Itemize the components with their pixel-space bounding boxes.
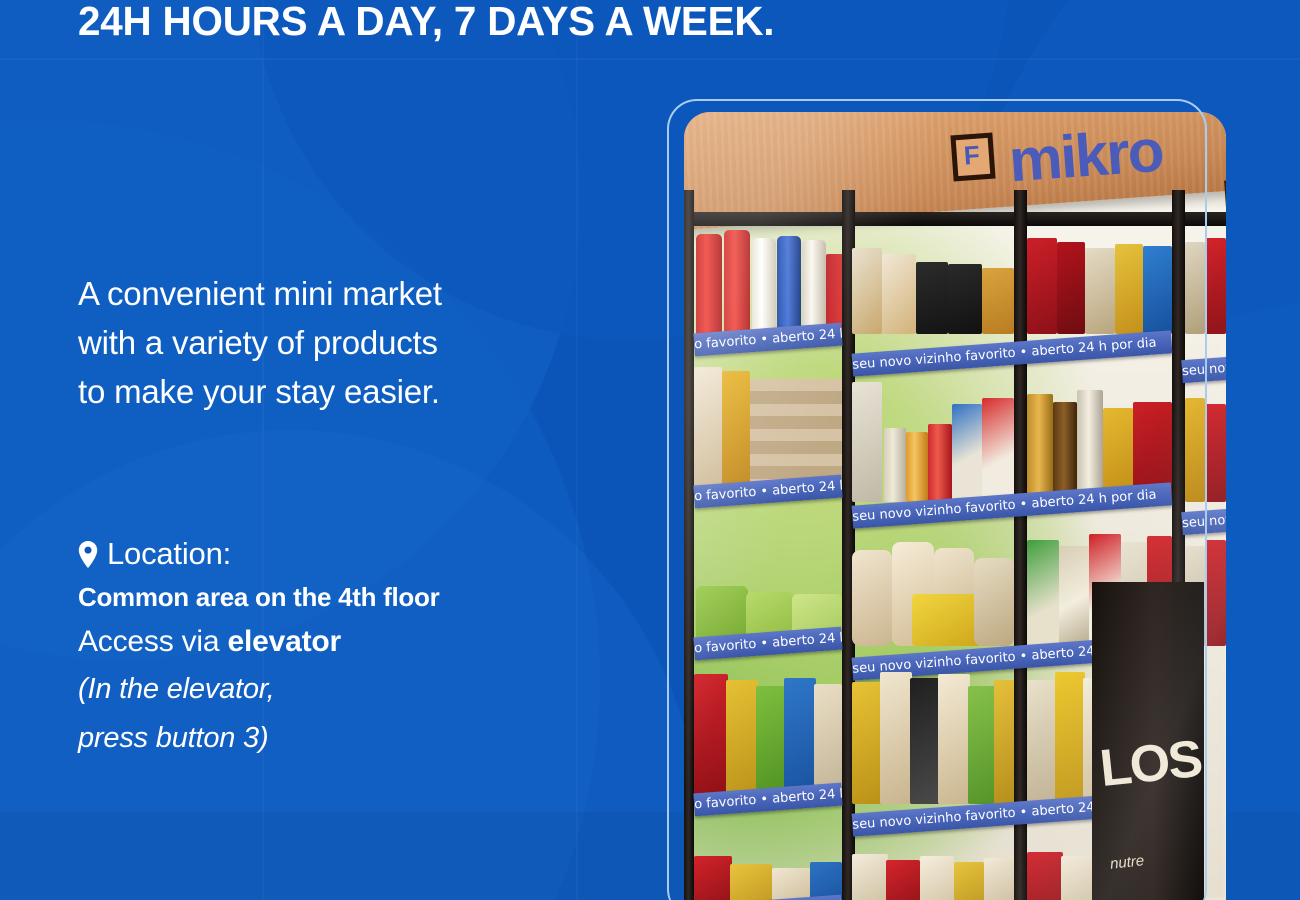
market-wordmark: market — [1218, 154, 1226, 217]
intro-line-1: A convenient mini market — [78, 269, 618, 318]
product-snack-bag — [1143, 246, 1172, 334]
product-chip-bag — [852, 682, 882, 804]
mikro-wordmark: mikro — [1007, 121, 1164, 192]
product-tube — [724, 230, 750, 334]
product-bread-loaf — [852, 550, 892, 646]
product-bottle — [1027, 394, 1053, 502]
product-bar — [920, 856, 954, 900]
product-tube — [696, 234, 722, 334]
product-bar — [954, 862, 984, 900]
shelf-row-3-mid — [852, 504, 1014, 646]
product-bar — [852, 854, 888, 900]
product-bag — [1059, 546, 1089, 646]
product-chip-bag — [994, 680, 1014, 804]
location-access-prefix: Access via — [78, 625, 228, 658]
mikro-logo-glyph: F — [963, 140, 978, 172]
cabinet-mullion-2 — [1014, 190, 1027, 900]
product-box — [772, 868, 812, 900]
product-box — [982, 398, 1014, 502]
product-bread — [882, 254, 916, 334]
shelf-row-4-left — [694, 658, 842, 804]
photo-content: F mikro market — [684, 112, 1226, 900]
photo-side-panel: LOS nutre — [1092, 582, 1204, 900]
shelf-row-3-left — [694, 504, 842, 646]
product-tube — [802, 240, 826, 334]
product-noodle-cup — [852, 382, 882, 502]
product-tube — [777, 236, 801, 334]
location-label: Location: — [107, 533, 231, 575]
shelf-row-5-left — [694, 812, 842, 900]
shelf-row-2-mid — [852, 352, 1014, 502]
product-tube — [752, 238, 776, 334]
product-snack-bag — [948, 264, 982, 334]
location-access-emphasis: elevator — [228, 625, 341, 658]
cabinet-top-rail — [684, 212, 1226, 226]
product-bar — [984, 858, 1014, 900]
shelf-row-1-mid — [852, 226, 1014, 334]
product-noodle-cup — [694, 367, 722, 487]
product-chip-bag — [880, 672, 912, 804]
bg-vline-2 — [576, 0, 578, 900]
product-bottle — [1053, 402, 1077, 502]
shelf-row-5-mid — [852, 812, 1014, 900]
product-can — [928, 424, 952, 502]
product-bag — [1205, 404, 1226, 502]
location-note-line-1: (In the elevator, — [78, 665, 638, 714]
shelf-row-1-far-right — [1185, 226, 1226, 334]
shelf-row-2-right — [1027, 352, 1172, 502]
product-bar — [1061, 856, 1095, 900]
side-panel-word: LOS — [1098, 737, 1203, 791]
bg-vline-1 — [262, 0, 264, 900]
shelf-row-2-far-right — [1185, 352, 1226, 502]
shelf-row-1-right — [1027, 226, 1172, 334]
shelf-row-2-left — [694, 352, 842, 487]
product-bread-loaf — [974, 558, 1014, 646]
product-chip-bag — [726, 680, 758, 804]
product-chip-bag — [694, 674, 728, 804]
side-panel-subtitle: nutre — [1109, 852, 1145, 872]
product-bag — [1185, 398, 1205, 502]
product-yellow-bag — [912, 594, 982, 646]
location-access: Access via elevator — [78, 619, 638, 665]
mikro-market-photo: F mikro market — [684, 112, 1226, 900]
bg-band-top — [0, 58, 1300, 60]
intro-paragraph: A convenient mini market with a variety … — [78, 269, 618, 416]
product-snack-bag — [1185, 242, 1205, 334]
location-note-line-2: press button 3) — [78, 714, 638, 763]
product-snack-bag — [916, 262, 948, 334]
product-bottle — [1077, 390, 1103, 502]
product-box — [694, 856, 732, 900]
product-chip-bag — [910, 678, 940, 804]
shelf-row-1-left — [694, 226, 842, 334]
product-snack-bag — [1085, 248, 1115, 334]
product-bag — [1205, 540, 1226, 646]
product-can — [884, 428, 906, 502]
product-chip-bag — [1055, 672, 1085, 804]
product-chip-bag — [1027, 680, 1057, 804]
product-box — [952, 404, 982, 502]
location-block: Location: Common area on the 4th floor A… — [78, 533, 638, 763]
mikro-logo-mark: F — [950, 133, 995, 182]
intro-line-2: with a variety of products — [78, 318, 618, 367]
product-bar — [1027, 852, 1063, 900]
shelf-row-4-mid — [852, 658, 1014, 804]
product-bar — [886, 860, 920, 900]
product-snack-bag — [982, 268, 1014, 334]
product-snack-bag — [1205, 238, 1226, 334]
product-can — [906, 432, 928, 502]
page-headline: 24H HOURS A DAY, 7 DAYS A WEEK. — [78, 0, 774, 48]
product-box — [730, 864, 772, 900]
product-snack-bag — [1027, 238, 1057, 334]
product-bag — [1027, 540, 1059, 646]
intro-line-3: to make your stay easier. — [78, 367, 618, 416]
map-pin-icon — [78, 541, 98, 568]
product-snack-bag — [1115, 244, 1143, 334]
product-snack-bag — [1057, 242, 1085, 334]
product-chip-bag — [938, 674, 970, 804]
product-noodle-cup — [722, 371, 750, 487]
product-egg-cartons — [750, 379, 842, 487]
location-heading: Location: — [78, 533, 638, 575]
product-bread — [852, 248, 882, 334]
location-floor: Common area on the 4th floor — [78, 575, 638, 619]
